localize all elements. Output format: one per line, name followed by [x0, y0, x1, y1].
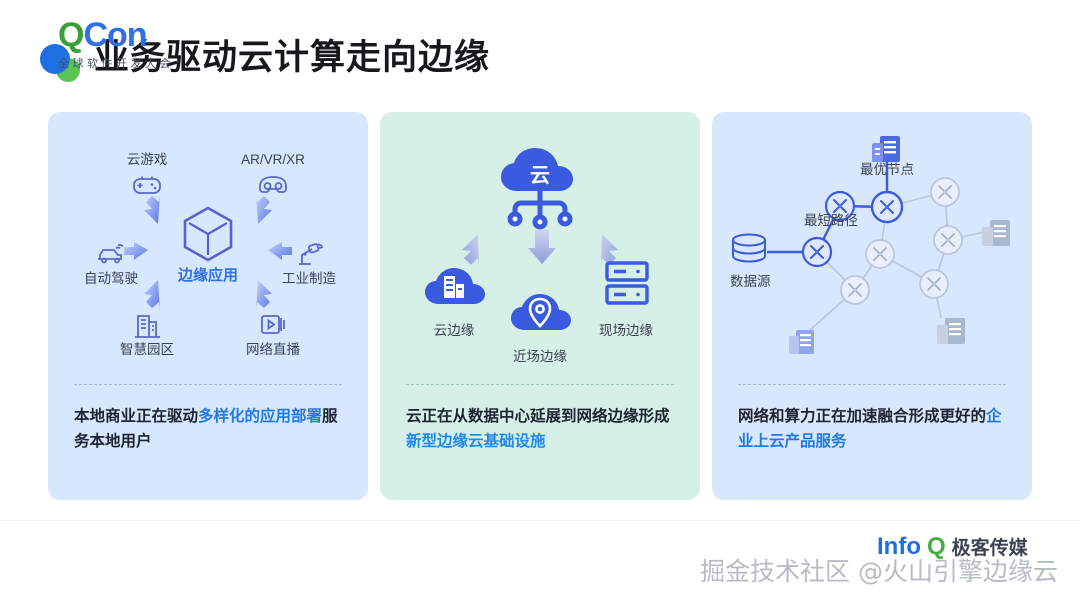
- center-label: 边缘应用: [163, 264, 253, 285]
- panel-divider: [406, 384, 674, 385]
- robot-arm-icon: [264, 237, 354, 271]
- node-near-field-edge: 近场边缘: [490, 288, 590, 365]
- panel-3-artwork: 最优节点 最短路径 数据源: [712, 112, 1032, 380]
- center-edge-application: 边缘应用: [163, 206, 253, 285]
- node-live-streaming: 网络直播: [228, 308, 318, 358]
- cloud-location-pin-icon: [505, 288, 575, 338]
- node-on-site-edge: 现场边缘: [576, 258, 676, 339]
- panel-edge-cloud-infrastructure: 云: [380, 112, 700, 500]
- gamepad-icon: [102, 168, 192, 202]
- node-smart-park: 智慧园区: [102, 308, 192, 358]
- node-cloud-edge: 云边缘: [404, 262, 504, 339]
- qcon-con: Con: [83, 16, 146, 54]
- watermark-text: 掘金技术社区 @火山引擎边缘云: [700, 552, 1058, 588]
- video-play-icon: [228, 308, 318, 342]
- panel-2-caption: 云正在从数据中心延展到网络边缘形成新型边缘云基础设施: [406, 404, 680, 454]
- server-icon-bottom-left: [789, 330, 814, 354]
- network-topology-icon: [712, 112, 1032, 380]
- server-icon-bottom-right: [937, 318, 965, 344]
- node-label: 自动驾驶: [66, 271, 156, 287]
- office-building-icon: [102, 308, 192, 342]
- node-ar-vr-xr: AR/VR/XR: [228, 152, 318, 202]
- label-shortest-path: 最短路径: [804, 209, 858, 229]
- slide-root: 业务驱动云计算走向边缘: [0, 0, 1080, 609]
- panel-1-artwork: 云游戏 AR/VR/XR: [48, 112, 368, 380]
- cloud-building-icon: [419, 262, 489, 312]
- vr-goggles-icon: [228, 168, 318, 202]
- panel-divider: [74, 384, 342, 385]
- server-rack-icon: [591, 258, 661, 312]
- node-label: 智慧园区: [102, 342, 192, 358]
- qcon-subtitle: 全球软件开发大会: [58, 55, 174, 71]
- qcon-logo: QCon 全球软件开发大会: [58, 18, 174, 71]
- node-autonomous-driving: 自动驾驶: [66, 237, 156, 287]
- label-optimal-node: 最优节点: [860, 158, 914, 178]
- cloud-label: 云: [530, 163, 550, 187]
- server-icon-right: [982, 220, 1010, 246]
- panel-divider: [738, 384, 1006, 385]
- panel-edge-applications: 云游戏 AR/VR/XR: [48, 112, 368, 500]
- caption-pre: 本地商业正在驱动: [74, 408, 198, 425]
- node-label: 云边缘: [404, 319, 504, 339]
- panel-network-compute-convergence: 最优节点 最短路径 数据源 网络和算力正在加速融合形成更好的企业上云产品服务: [712, 112, 1032, 500]
- panel-3-caption: 网络和算力正在加速融合形成更好的企业上云产品服务: [738, 404, 1012, 454]
- node-label: 工业制造: [264, 271, 354, 287]
- cloud-root: 云: [485, 144, 595, 239]
- connected-car-icon: [66, 237, 156, 271]
- qcon-q: Q: [58, 16, 83, 54]
- panel-row: 云游戏 AR/VR/XR: [48, 112, 1032, 500]
- database-icon: [733, 235, 765, 262]
- caption-pre: 网络和算力正在加速融合形成更好的: [738, 408, 986, 425]
- node-label: AR/VR/XR: [228, 152, 318, 168]
- label-data-source: 数据源: [730, 270, 771, 290]
- cloud-network-icon: 云: [485, 144, 595, 234]
- caption-highlight: 多样化的应用部署: [198, 408, 322, 425]
- caption-pre: 云正在从数据中心延展到网络边缘形成: [406, 408, 670, 425]
- node-cloud-gaming: 云游戏: [102, 152, 192, 202]
- node-label: 现场边缘: [576, 319, 676, 339]
- node-label: 云游戏: [102, 152, 192, 168]
- node-industrial-manufacturing: 工业制造: [264, 237, 354, 287]
- node-label: 网络直播: [228, 342, 318, 358]
- node-label: 近场边缘: [490, 345, 590, 365]
- panel-1-caption: 本地商业正在驱动多样化的应用部署服务本地用户: [74, 404, 348, 454]
- panel-2-artwork: 云: [380, 112, 700, 380]
- cube-hexagon-icon: [163, 206, 253, 262]
- caption-highlight: 新型边缘云基础设施: [406, 433, 546, 450]
- qcon-wordmark: QCon: [58, 18, 174, 52]
